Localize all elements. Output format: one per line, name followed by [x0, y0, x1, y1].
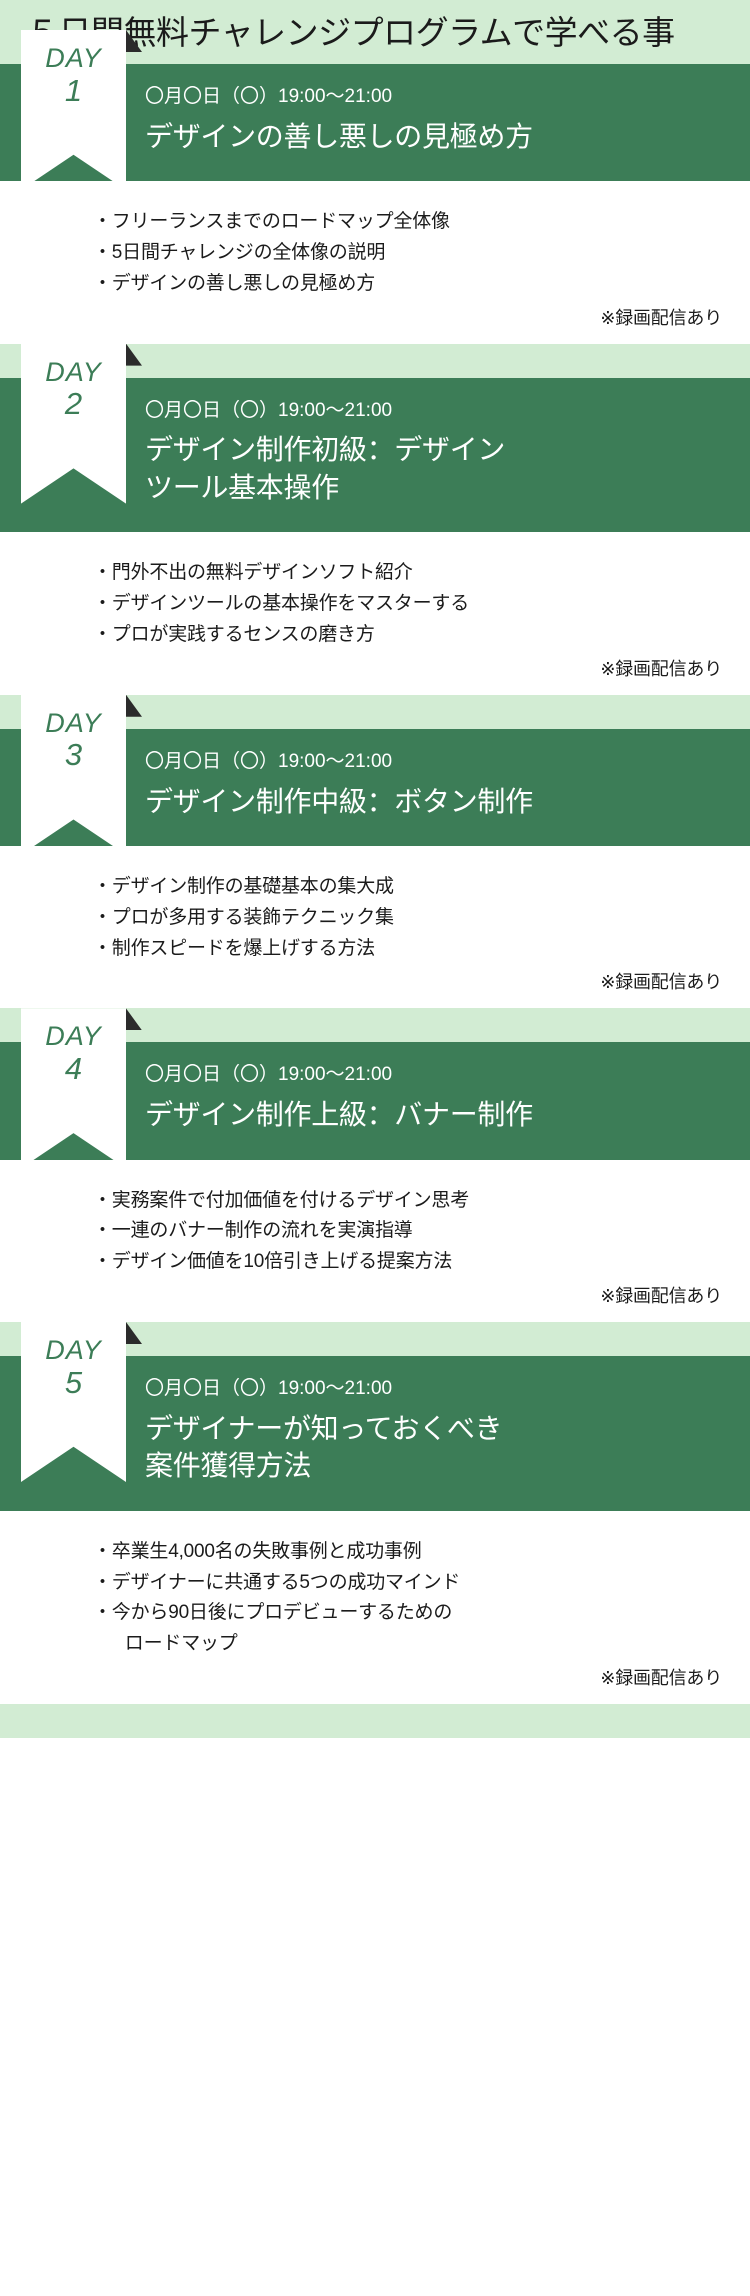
section-divider: [0, 1704, 750, 1738]
day-bullet-list: ・フリーランスまでのロードマップ全体像・5日間チャレンジの全体像の説明・デザイン…: [0, 207, 750, 299]
day-header-content: 〇月〇日（〇）19:00〜21:00 デザイン制作初級：デザインツール基本操作: [145, 378, 750, 533]
bullet-item: ・プロが実践するセンスの磨き方: [93, 620, 750, 651]
day-title: デザインの善し悪しの見極め方: [145, 118, 750, 156]
day-header-content: 〇月〇日（〇）19:00〜21:00 デザイナーが知っておくべき案件獲得方法: [145, 1356, 750, 1511]
day-datetime: 〇月〇日（〇）19:00〜21:00: [145, 400, 750, 423]
ribbon-day-number: 4: [21, 1051, 126, 1087]
day-title: デザイン制作上級：バナー制作: [145, 1096, 750, 1134]
day-ribbon-tag: DAY 4: [21, 1008, 126, 1168]
bullet-item: ・フリーランスまでのロードマップ全体像: [93, 207, 750, 238]
ribbon-day-label: DAY: [21, 358, 126, 387]
day-body: ・デザイン制作の基礎基本の集大成・プロが多用する装飾テクニック集・制作スピードを…: [0, 846, 750, 1008]
day-header-content: 〇月〇日（〇）19:00〜21:00 デザインの善し悪しの見極め方: [145, 64, 750, 181]
ribbon-day-number: 5: [21, 1365, 126, 1401]
day-bullet-list: ・デザイン制作の基礎基本の集大成・プロが多用する装飾テクニック集・制作スピードを…: [0, 872, 750, 964]
day-body: ・フリーランスまでのロードマップ全体像・5日間チャレンジの全体像の説明・デザイン…: [0, 181, 750, 343]
bullet-item: ・卒業生4,000名の失敗事例と成功事例: [93, 1537, 750, 1568]
day-header: DAY 3 〇月〇日（〇）19:00〜21:00 デザイン制作中級：ボタン制作: [0, 729, 750, 846]
day-section-3: DAY 3 〇月〇日（〇）19:00〜21:00 デザイン制作中級：ボタン制作 …: [0, 729, 750, 1009]
day-recording-note: ※録画配信あり: [0, 1660, 750, 1690]
day-header: DAY 4 〇月〇日（〇）19:00〜21:00 デザイン制作上級：バナー制作: [0, 1042, 750, 1159]
ribbon-day-label: DAY: [21, 44, 126, 73]
day-datetime: 〇月〇日（〇）19:00〜21:00: [145, 1064, 750, 1087]
bullet-item: ・デザインツールの基本操作をマスターする: [93, 589, 750, 620]
ribbon-day-label: DAY: [21, 1022, 126, 1051]
day-header: DAY 1 〇月〇日（〇）19:00〜21:00 デザインの善し悪しの見極め方: [0, 64, 750, 181]
day-section-1: DAY 1 〇月〇日（〇）19:00〜21:00 デザインの善し悪しの見極め方 …: [0, 64, 750, 344]
day-bullet-list: ・実務案件で付加価値を付けるデザイン思考・一連のバナー制作の流れを実演指導・デザ…: [0, 1186, 750, 1278]
bullet-item: ・デザイナーに共通する5つの成功マインド: [93, 1568, 750, 1599]
ribbon-day-number: 2: [21, 386, 126, 422]
day-bullet-list: ・卒業生4,000名の失敗事例と成功事例・デザイナーに共通する5つの成功マインド…: [0, 1537, 750, 1660]
day-section-5: DAY 5 〇月〇日（〇）19:00〜21:00 デザイナーが知っておくべき案件…: [0, 1356, 750, 1704]
day-header-content: 〇月〇日（〇）19:00〜21:00 デザイン制作上級：バナー制作: [145, 1042, 750, 1159]
day-header: DAY 2 〇月〇日（〇）19:00〜21:00 デザイン制作初級：デザインツー…: [0, 378, 750, 533]
day-recording-note: ※録画配信あり: [0, 964, 750, 994]
bullet-item: ・プロが多用する装飾テクニック集: [93, 903, 750, 934]
day-ribbon-tag: DAY 2: [21, 344, 126, 504]
day-recording-note: ※録画配信あり: [0, 300, 750, 330]
day-section-4: DAY 4 〇月〇日（〇）19:00〜21:00 デザイン制作上級：バナー制作 …: [0, 1042, 750, 1322]
bullet-item: ・門外不出の無料デザインソフト紹介: [93, 558, 750, 589]
bullet-item: ・今から90日後にプロデビューするための ロードマップ: [93, 1598, 750, 1660]
day-title: デザイナーが知っておくべき案件獲得方法: [145, 1410, 750, 1485]
day-section-2: DAY 2 〇月〇日（〇）19:00〜21:00 デザイン制作初級：デザインツー…: [0, 378, 750, 695]
day-ribbon-tag: DAY 1: [21, 30, 126, 190]
day-body: ・門外不出の無料デザインソフト紹介・デザインツールの基本操作をマスターする・プロ…: [0, 532, 750, 694]
day-body: ・実務案件で付加価値を付けるデザイン思考・一連のバナー制作の流れを実演指導・デザ…: [0, 1160, 750, 1322]
bullet-item: ・実務案件で付加価値を付けるデザイン思考: [93, 1186, 750, 1217]
day-title: デザイン制作中級：ボタン制作: [145, 783, 750, 821]
day-sections-container: DAY 1 〇月〇日（〇）19:00〜21:00 デザインの善し悪しの見極め方 …: [0, 64, 750, 1738]
bullet-item: ・一連のバナー制作の流れを実演指導: [93, 1216, 750, 1247]
day-datetime: 〇月〇日（〇）19:00〜21:00: [145, 1378, 750, 1401]
bullet-item: ・制作スピードを爆上げする方法: [93, 934, 750, 965]
day-body: ・卒業生4,000名の失敗事例と成功事例・デザイナーに共通する5つの成功マインド…: [0, 1511, 750, 1704]
day-recording-note: ※録画配信あり: [0, 651, 750, 681]
bullet-item: ・デザイン価値を10倍引き上げる提案方法: [93, 1247, 750, 1278]
day-ribbon-tag: DAY 3: [21, 695, 126, 855]
ribbon-day-number: 3: [21, 737, 126, 773]
day-datetime: 〇月〇日（〇）19:00〜21:00: [145, 86, 750, 109]
bullet-item: ・5日間チャレンジの全体像の説明: [93, 238, 750, 269]
bullet-item: ・デザイン制作の基礎基本の集大成: [93, 872, 750, 903]
day-ribbon-tag: DAY 5: [21, 1322, 126, 1482]
ribbon-day-number: 1: [21, 73, 126, 109]
ribbon-day-label: DAY: [21, 709, 126, 738]
day-recording-note: ※録画配信あり: [0, 1278, 750, 1308]
day-datetime: 〇月〇日（〇）19:00〜21:00: [145, 751, 750, 774]
ribbon-day-label: DAY: [21, 1336, 126, 1365]
day-bullet-list: ・門外不出の無料デザインソフト紹介・デザインツールの基本操作をマスターする・プロ…: [0, 558, 750, 650]
day-header: DAY 5 〇月〇日（〇）19:00〜21:00 デザイナーが知っておくべき案件…: [0, 1356, 750, 1511]
program-schedule-page: ５日間無料チャレンジプログラムで学べる事 DAY 1 〇月〇日（〇）19:00〜…: [0, 0, 750, 2296]
day-header-content: 〇月〇日（〇）19:00〜21:00 デザイン制作中級：ボタン制作: [145, 729, 750, 846]
day-title: デザイン制作初級：デザインツール基本操作: [145, 431, 750, 506]
bullet-item: ・デザインの善し悪しの見極め方: [93, 269, 750, 300]
